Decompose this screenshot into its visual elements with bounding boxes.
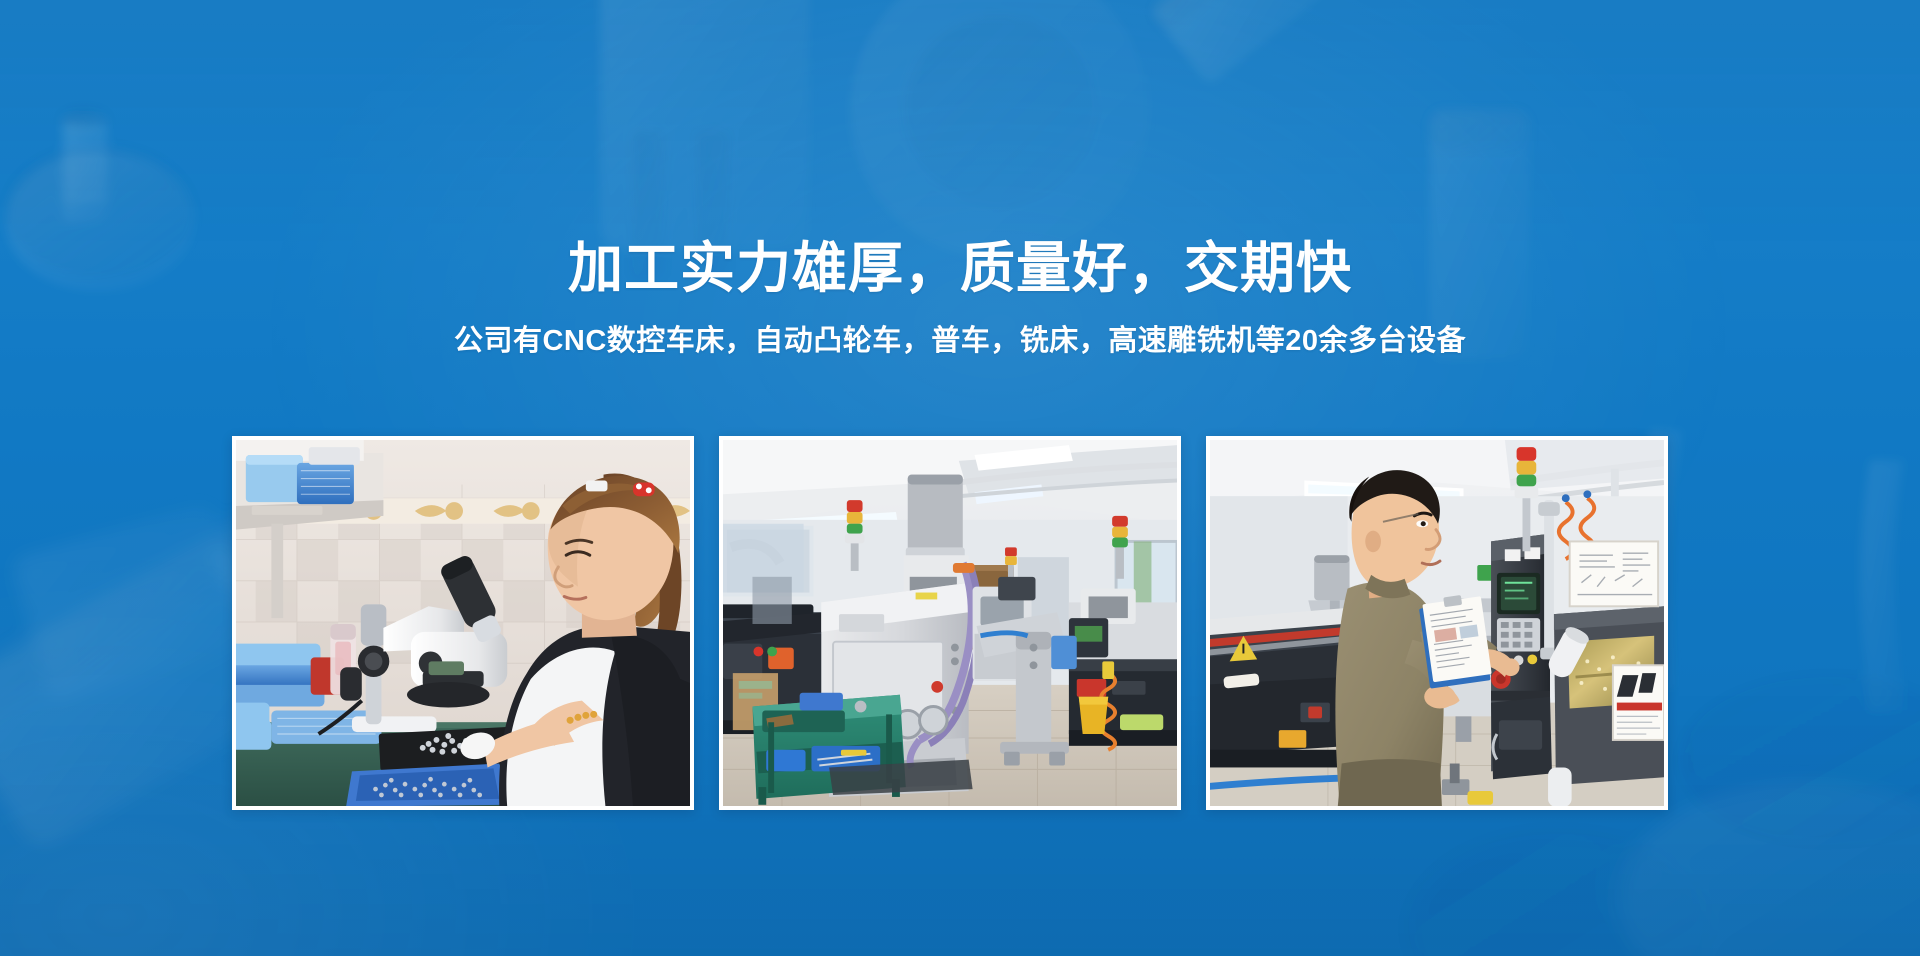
photo-gallery: 质检员使用体视显微镜检测金属零件 xyxy=(232,436,1668,810)
photo-image-cnc-workshop xyxy=(723,440,1177,806)
gallery-photo-cnc-workshop[interactable]: CNC数控车床车间全景 xyxy=(719,436,1181,810)
photo-image-machine-operator xyxy=(1210,440,1664,806)
gallery-photo-machine-operator[interactable]: 操作员对照图纸操作数控车床控制面板 xyxy=(1206,436,1668,810)
page-title: 加工实力雄厚，质量好，交期快 xyxy=(0,236,1920,300)
banner-copy: 加工实力雄厚，质量好，交期快 公司有CNC数控车床，自动凸轮车，普车，铣床，高速… xyxy=(0,236,1920,360)
photo-image-quality-inspection xyxy=(236,440,690,806)
gallery-photo-quality-inspection[interactable]: 质检员使用体视显微镜检测金属零件 xyxy=(232,436,694,810)
page-subtitle: 公司有CNC数控车床，自动凸轮车，普车，铣床，高速雕铣机等20余多台设备 xyxy=(0,322,1920,360)
promo-banner: 加工实力雄厚，质量好，交期快 公司有CNC数控车床，自动凸轮车，普车，铣床，高速… xyxy=(0,0,1920,956)
